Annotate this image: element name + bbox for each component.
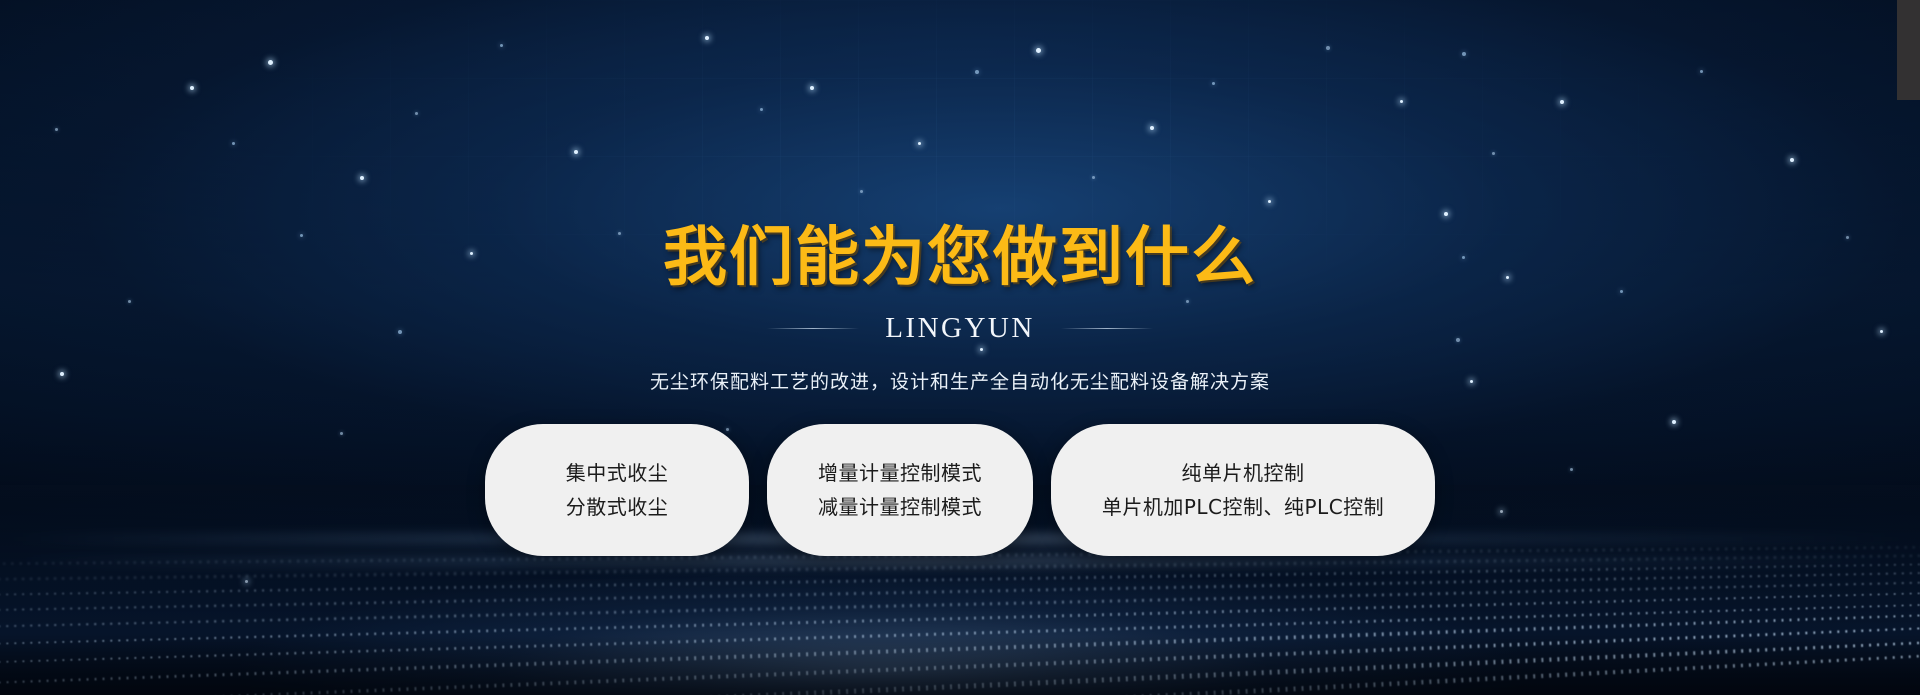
feature-card-line: 纯单片机控制 (1085, 463, 1401, 483)
mesh-dot-row (0, 620, 1920, 695)
feature-card[interactable]: 纯单片机控制 单片机加PLC控制、纯PLC控制 (1051, 424, 1435, 556)
divider-right (1061, 328, 1153, 329)
feature-card-line: 集中式收尘 (519, 463, 715, 483)
mesh-dot-row (0, 646, 1920, 695)
page-title: 我们能为您做到什么 (0, 0, 1920, 290)
mesh-dot-row (0, 578, 1920, 632)
banner-content: 我们能为您做到什么 LINGYUN 无尘环保配料工艺的改进，设计和生产全自动化无… (0, 0, 1920, 556)
mesh-horizon-streak (0, 555, 1920, 567)
mesh-dot-row (0, 588, 1920, 649)
brand-eyebrow-row: LINGYUN (0, 312, 1920, 345)
brand-name: LINGYUN (885, 312, 1035, 345)
feature-card[interactable]: 集中式收尘 分散式收尘 (485, 424, 749, 556)
feature-card[interactable]: 增量计量控制模式 减量计量控制模式 (767, 424, 1033, 556)
mesh-dot-row (0, 608, 1920, 690)
divider-left (767, 328, 859, 329)
mesh-dot-row (0, 561, 1920, 599)
hero-banner: 我们能为您做到什么 LINGYUN 无尘环保配料工艺的改进，设计和生产全自动化无… (0, 0, 1920, 695)
feature-card-line: 分散式收尘 (519, 497, 715, 517)
feature-card-line: 增量计量控制模式 (801, 463, 999, 483)
page-subtitle: 无尘环保配料工艺的改进，设计和生产全自动化无尘配料设备解决方案 (0, 367, 1920, 394)
feature-card-line: 减量计量控制模式 (801, 497, 999, 517)
star-dot (245, 580, 248, 583)
mesh-dot-row (0, 599, 1920, 668)
mesh-dot-row (0, 552, 1920, 582)
feature-card-line: 单片机加PLC控制、纯PLC控制 (1085, 497, 1401, 517)
mesh-dot-row (0, 569, 1920, 615)
feature-card-list: 集中式收尘 分散式收尘 增量计量控制模式 减量计量控制模式 纯单片机控制 单片机… (0, 424, 1920, 556)
mesh-dot-row (0, 633, 1920, 695)
